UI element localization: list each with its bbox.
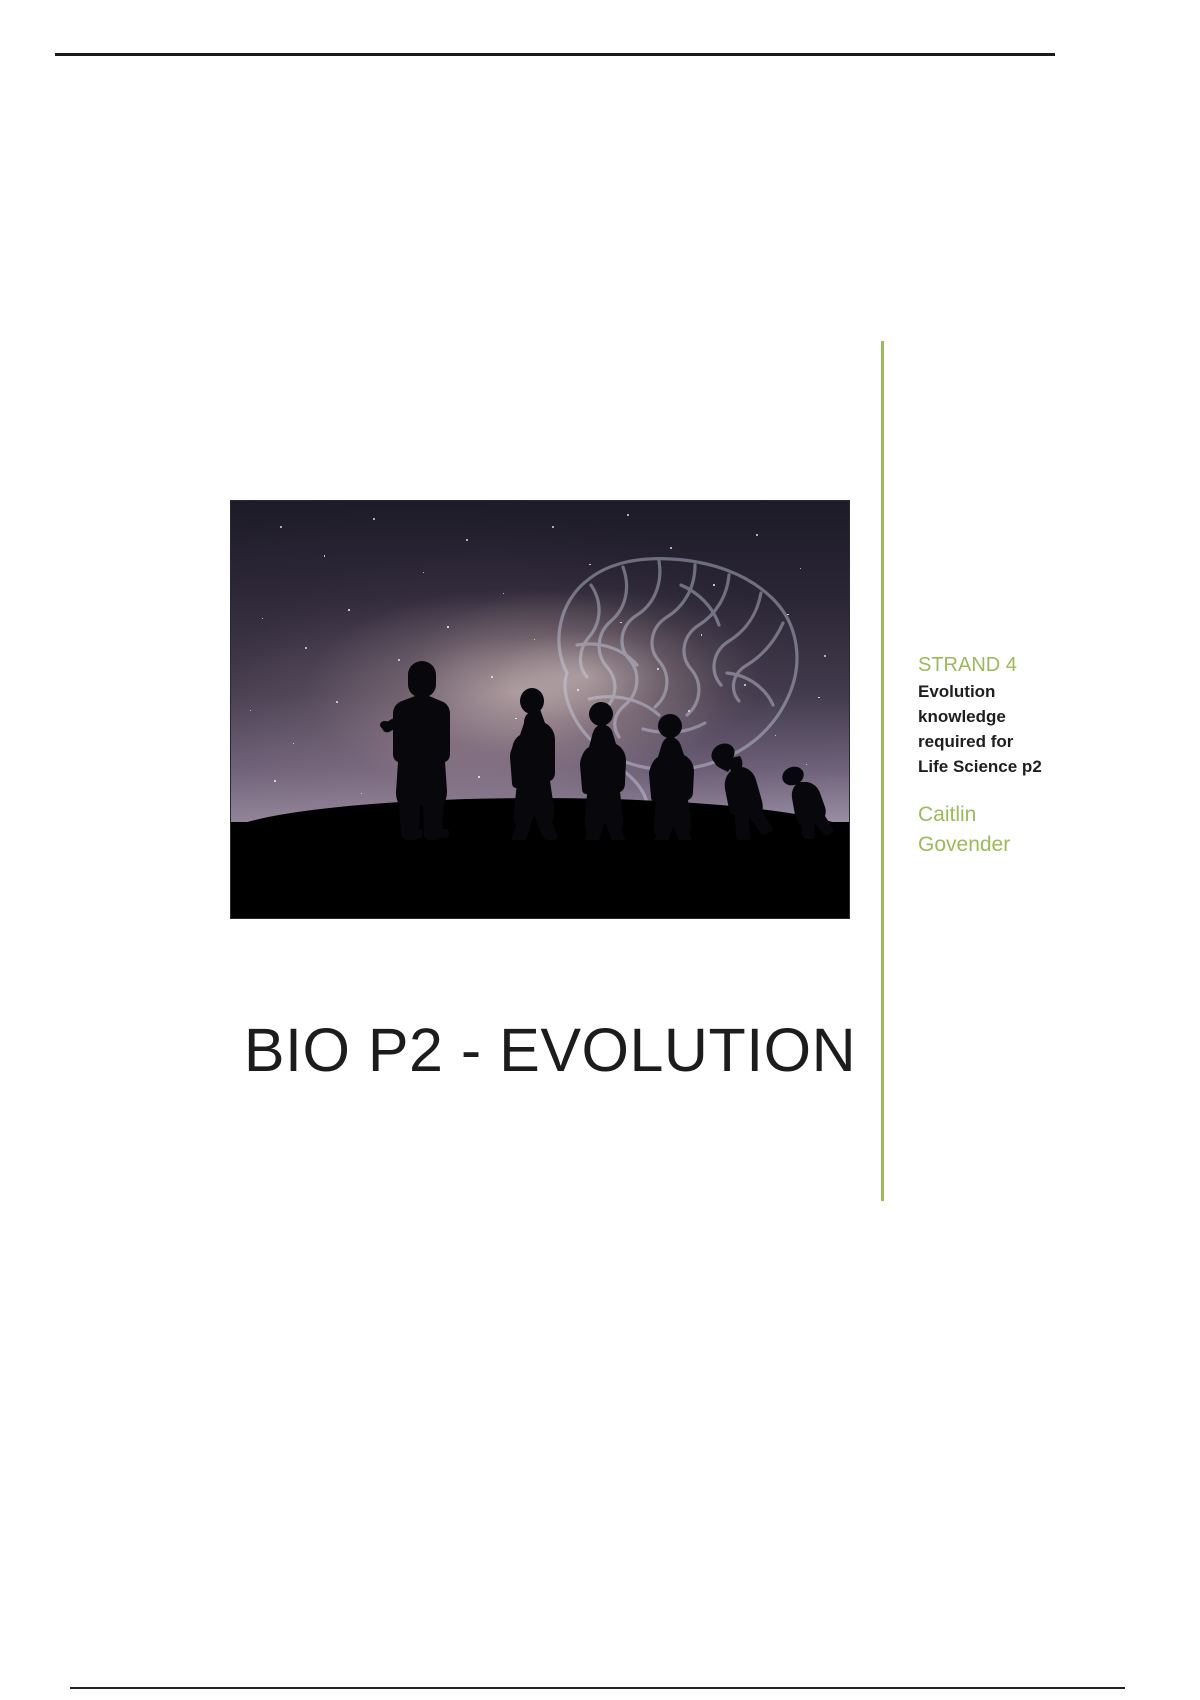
silhouette-modern-human — [499, 688, 563, 840]
footer-rule — [70, 1687, 1125, 1689]
silhouette-astronaut-pointing — [379, 655, 467, 840]
silhouette-ape-knuckle-walking — [779, 760, 837, 840]
side-info-panel: STRAND 4 Evolution knowledge required fo… — [918, 652, 1048, 861]
silhouette-hominid-stooped — [709, 728, 777, 840]
accent-divider-line — [881, 341, 884, 1201]
author-name: Caitlin Govender — [918, 800, 1048, 861]
silhouette-hominid-upright — [643, 712, 703, 840]
strand-label: STRAND 4 — [918, 652, 1048, 678]
document-subtitle: Evolution knowledge required for Life Sc… — [918, 680, 1048, 780]
page-title: BIO P2 - EVOLUTION — [230, 1018, 870, 1082]
silhouette-early-human — [573, 700, 635, 840]
header-rule — [55, 53, 1055, 56]
cover-image — [230, 500, 850, 919]
